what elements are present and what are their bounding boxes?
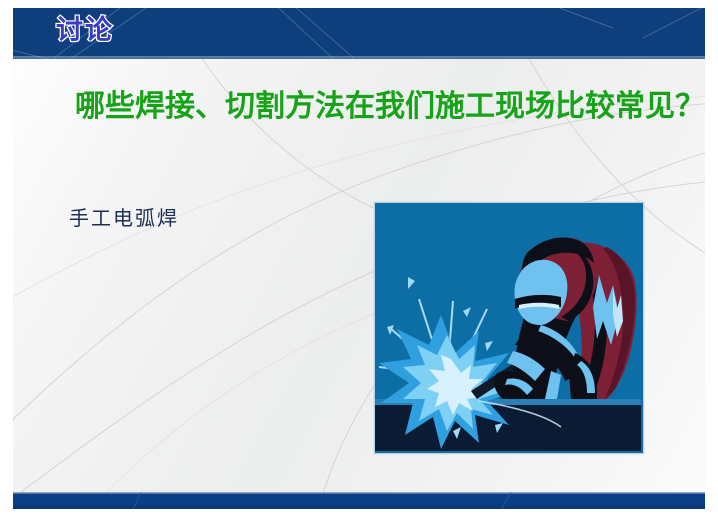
banner-diagonal-lines-decoration [13,8,705,59]
slide-content-frame: 讨论 哪些焊接、切割方法在我们施工现场比较常见？ 手工电弧焊 [13,8,705,509]
page-title: 哪些焊接、切割方法在我们施工现场比较常见？ [13,87,705,127]
title-banner: 讨论 [13,8,705,59]
slide-title: 讨论 [56,17,114,44]
footer-diagonal-lines-decoration [13,492,705,509]
welding-method-caption: 手工电弧焊 [69,202,179,231]
footer-bar [13,492,705,509]
welder-illustration [374,202,644,454]
slide-canvas: 讨论 哪些焊接、切割方法在我们施工现场比较常见？ 手工电弧焊 [0,0,718,517]
